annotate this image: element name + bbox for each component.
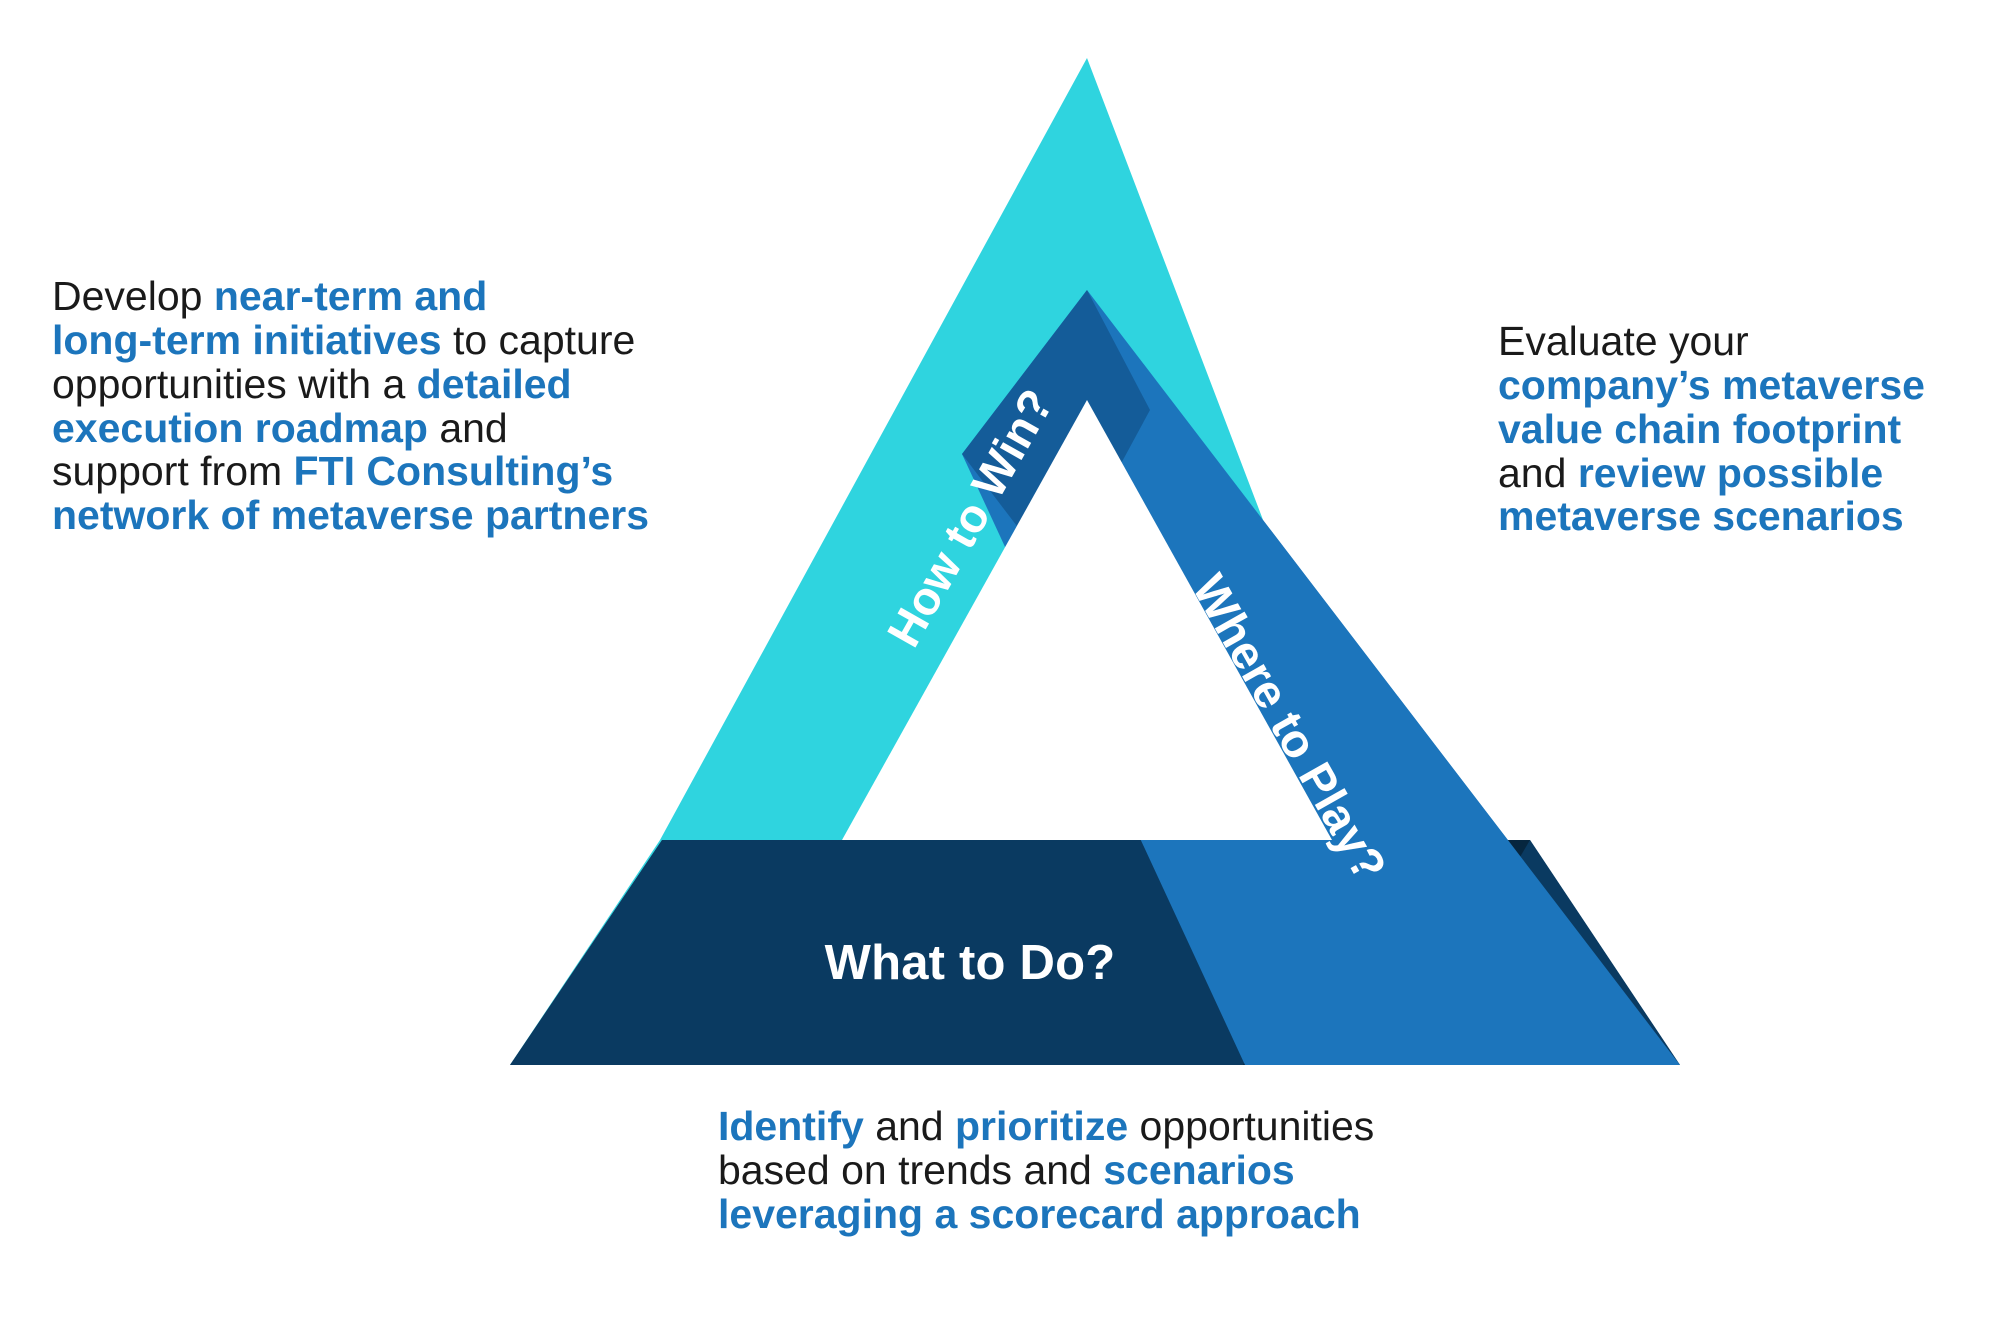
- caption-text: and: [864, 1103, 955, 1149]
- caption-line: and review possible: [1498, 452, 1968, 496]
- caption-text: opportunities with a: [52, 361, 417, 407]
- caption-emphasis: leveraging a scorecard approach: [718, 1191, 1361, 1237]
- arm-label-what-to-do[interactable]: What to Do?: [760, 935, 1180, 991]
- caption-line: based on trends and scenarios: [718, 1149, 1478, 1193]
- caption-text: and: [1498, 450, 1578, 496]
- caption-text: support from: [52, 448, 294, 494]
- caption-text: opportunities: [1128, 1103, 1374, 1149]
- caption-emphasis: near-term and: [214, 273, 487, 319]
- caption-emphasis: detailed: [417, 361, 572, 407]
- caption-emphasis: review possible: [1578, 450, 1883, 496]
- caption-text: and: [428, 405, 508, 451]
- caption-line: Identify and prioritize opportunities: [718, 1105, 1478, 1149]
- caption-where-to-play: Evaluate yourcompany’s metaversevalue ch…: [1498, 320, 1968, 539]
- caption-emphasis: scenarios: [1103, 1147, 1294, 1193]
- caption-emphasis: metaverse scenarios: [1498, 493, 1904, 539]
- caption-text: based on trends and: [718, 1147, 1103, 1193]
- caption-line: support from FTI Consulting’s: [52, 450, 752, 494]
- diagram-canvas: How to Win? Where to Play? What to Do? D…: [0, 0, 2000, 1334]
- caption-text: Develop: [52, 273, 214, 319]
- caption-emphasis: company’s metaverse: [1498, 362, 1925, 408]
- caption-line: leveraging a scorecard approach: [718, 1193, 1478, 1237]
- caption-emphasis: long-term initiatives: [52, 317, 442, 363]
- caption-line: network of metaverse partners: [52, 494, 752, 538]
- caption-line: long-term initiatives to capture: [52, 319, 752, 363]
- caption-what-to-do: Identify and prioritize opportunitiesbas…: [718, 1105, 1478, 1237]
- caption-line: Evaluate your: [1498, 320, 1968, 364]
- caption-text: to capture: [442, 317, 636, 363]
- caption-line: value chain footprint: [1498, 408, 1968, 452]
- caption-line: Develop near-term and: [52, 275, 752, 319]
- caption-text: Evaluate your: [1498, 318, 1749, 364]
- caption-how-to-win: Develop near-term andlong-term initiativ…: [52, 275, 752, 538]
- caption-emphasis: value chain footprint: [1498, 406, 1901, 452]
- caption-line: execution roadmap and: [52, 407, 752, 451]
- caption-emphasis: Identify: [718, 1103, 864, 1149]
- caption-emphasis: FTI Consulting’s: [294, 448, 614, 494]
- caption-emphasis: prioritize: [955, 1103, 1128, 1149]
- caption-emphasis: network of metaverse partners: [52, 492, 649, 538]
- caption-line: opportunities with a detailed: [52, 363, 752, 407]
- caption-line: metaverse scenarios: [1498, 495, 1968, 539]
- caption-emphasis: execution roadmap: [52, 405, 428, 451]
- caption-line: company’s metaverse: [1498, 364, 1968, 408]
